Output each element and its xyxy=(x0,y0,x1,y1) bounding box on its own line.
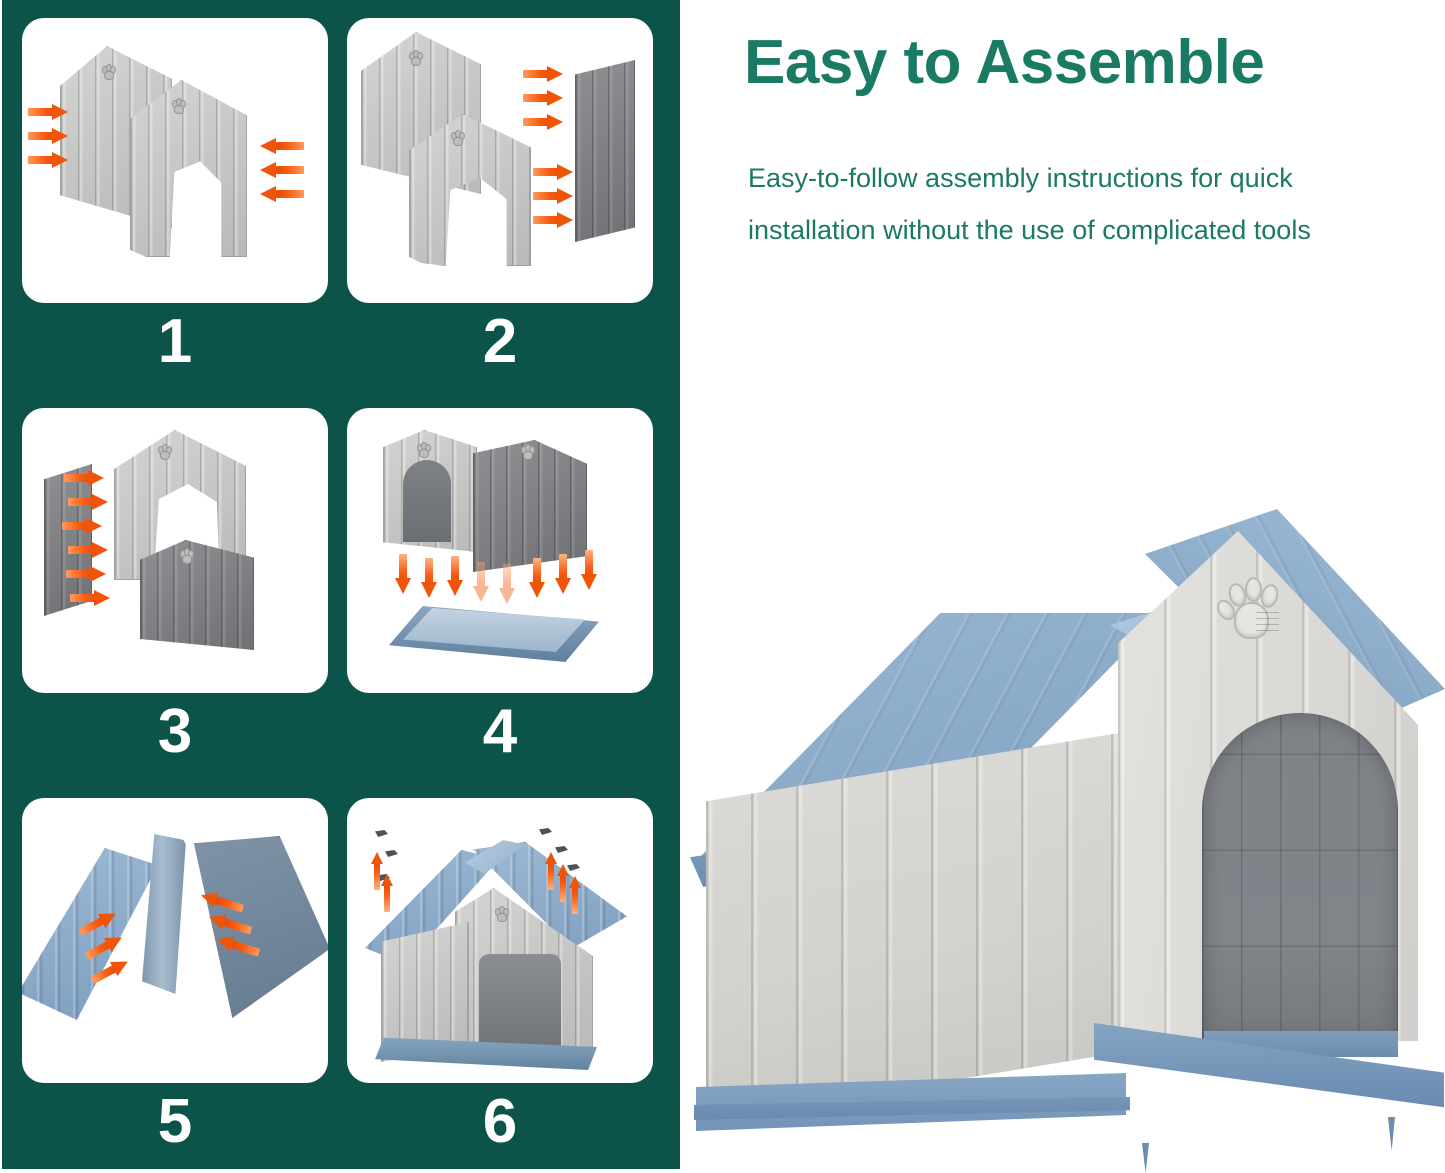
arrow-icon xyxy=(473,562,489,606)
arrow-icon xyxy=(523,90,567,106)
arrow-icon xyxy=(569,876,581,916)
assembly-step-card-6[interactable] xyxy=(347,798,653,1083)
doorway-opening xyxy=(403,460,451,542)
product-photo xyxy=(690,495,1445,1155)
arrow-icon xyxy=(66,566,110,582)
arrow-icon xyxy=(499,564,515,608)
assembly-step-illustration-3 xyxy=(22,408,328,693)
assembly-step-illustration-1 xyxy=(22,18,328,303)
gable-panel-front xyxy=(130,80,247,257)
arrow-icon xyxy=(62,518,106,534)
assembly-step-card-5[interactable] xyxy=(22,798,328,1083)
page-subtitle: Easy-to-follow assembly instructions for… xyxy=(748,152,1418,256)
assembly-step-number-4: 4 xyxy=(347,696,653,768)
doorway-opening xyxy=(479,954,561,1054)
paw-print-icon xyxy=(493,906,515,926)
arrow-icon xyxy=(447,556,463,600)
arrow-icon xyxy=(260,138,304,154)
arrow-icon xyxy=(68,494,112,510)
arrow-icon xyxy=(70,590,114,606)
assembly-step-illustration-2 xyxy=(347,18,653,303)
assembly-step-row-3: 5 xyxy=(2,780,680,1169)
arrow-icon xyxy=(557,864,569,904)
arrow-icon xyxy=(260,162,304,178)
arrow-icon xyxy=(533,188,577,204)
assembly-step-number-5: 5 xyxy=(22,1086,328,1158)
arrow-icon xyxy=(260,186,304,202)
doorway-opening xyxy=(1202,713,1398,1043)
ground-stake xyxy=(1388,1117,1395,1151)
arrow-icon xyxy=(64,470,108,486)
page-title: Easy to Assemble xyxy=(744,26,1404,100)
screw-icon xyxy=(375,830,388,837)
arrow-icon xyxy=(381,874,393,914)
side-wall-panel xyxy=(473,440,587,572)
assembly-step-illustration-4 xyxy=(347,408,653,693)
paw-print-icon xyxy=(178,548,194,563)
arrow-icon xyxy=(529,558,545,602)
paw-print-icon xyxy=(1218,573,1280,639)
paw-print-icon xyxy=(407,50,423,65)
arrow-icon xyxy=(523,66,567,82)
base-plinth-left xyxy=(696,1073,1126,1173)
assembly-step-card-1[interactable] xyxy=(22,18,328,303)
assembly-steps-panel: 1 2 xyxy=(2,0,680,1169)
assembly-step-number-6: 6 xyxy=(347,1086,653,1158)
arrow-icon xyxy=(421,558,437,602)
assembly-step-card-4[interactable] xyxy=(347,408,653,693)
assembly-step-number-1: 1 xyxy=(22,306,328,378)
assembly-step-row-2: 3 4 xyxy=(2,390,680,779)
assembly-step-row-1: 1 2 xyxy=(2,0,680,389)
paw-print-icon xyxy=(415,442,431,457)
arrow-icon xyxy=(533,212,577,228)
side-wall-panel xyxy=(575,60,635,242)
assembly-step-card-3[interactable] xyxy=(22,408,328,693)
arrow-icon xyxy=(533,164,577,180)
assembly-step-illustration-5 xyxy=(22,798,328,1083)
assembly-step-number-2: 2 xyxy=(347,306,653,378)
screw-icon xyxy=(385,850,398,857)
arrow-icon xyxy=(581,550,597,594)
assembly-step-illustration-6 xyxy=(347,798,653,1083)
paw-print-icon xyxy=(170,98,186,113)
arrow-icon xyxy=(545,852,557,892)
roof-panel-right xyxy=(182,836,328,1018)
assembly-step-card-2[interactable] xyxy=(347,18,653,303)
arrow-icon xyxy=(68,542,112,558)
side-wall-panel xyxy=(140,540,254,650)
arrow-icon xyxy=(28,104,72,120)
arrow-icon xyxy=(395,554,411,598)
arrow-icon xyxy=(555,554,571,598)
arrow-icon xyxy=(523,114,567,130)
paw-print-icon xyxy=(449,130,465,145)
screw-icon xyxy=(539,828,552,835)
paw-print-icon xyxy=(156,444,172,459)
arrow-icon xyxy=(28,128,72,144)
assembly-step-number-3: 3 xyxy=(22,696,328,768)
arrow-icon xyxy=(28,152,72,168)
paw-print-icon xyxy=(519,444,535,459)
roof-ridge-cap xyxy=(142,834,186,994)
paw-print-icon xyxy=(100,64,116,79)
doorway-interior-panels xyxy=(1202,713,1398,1043)
